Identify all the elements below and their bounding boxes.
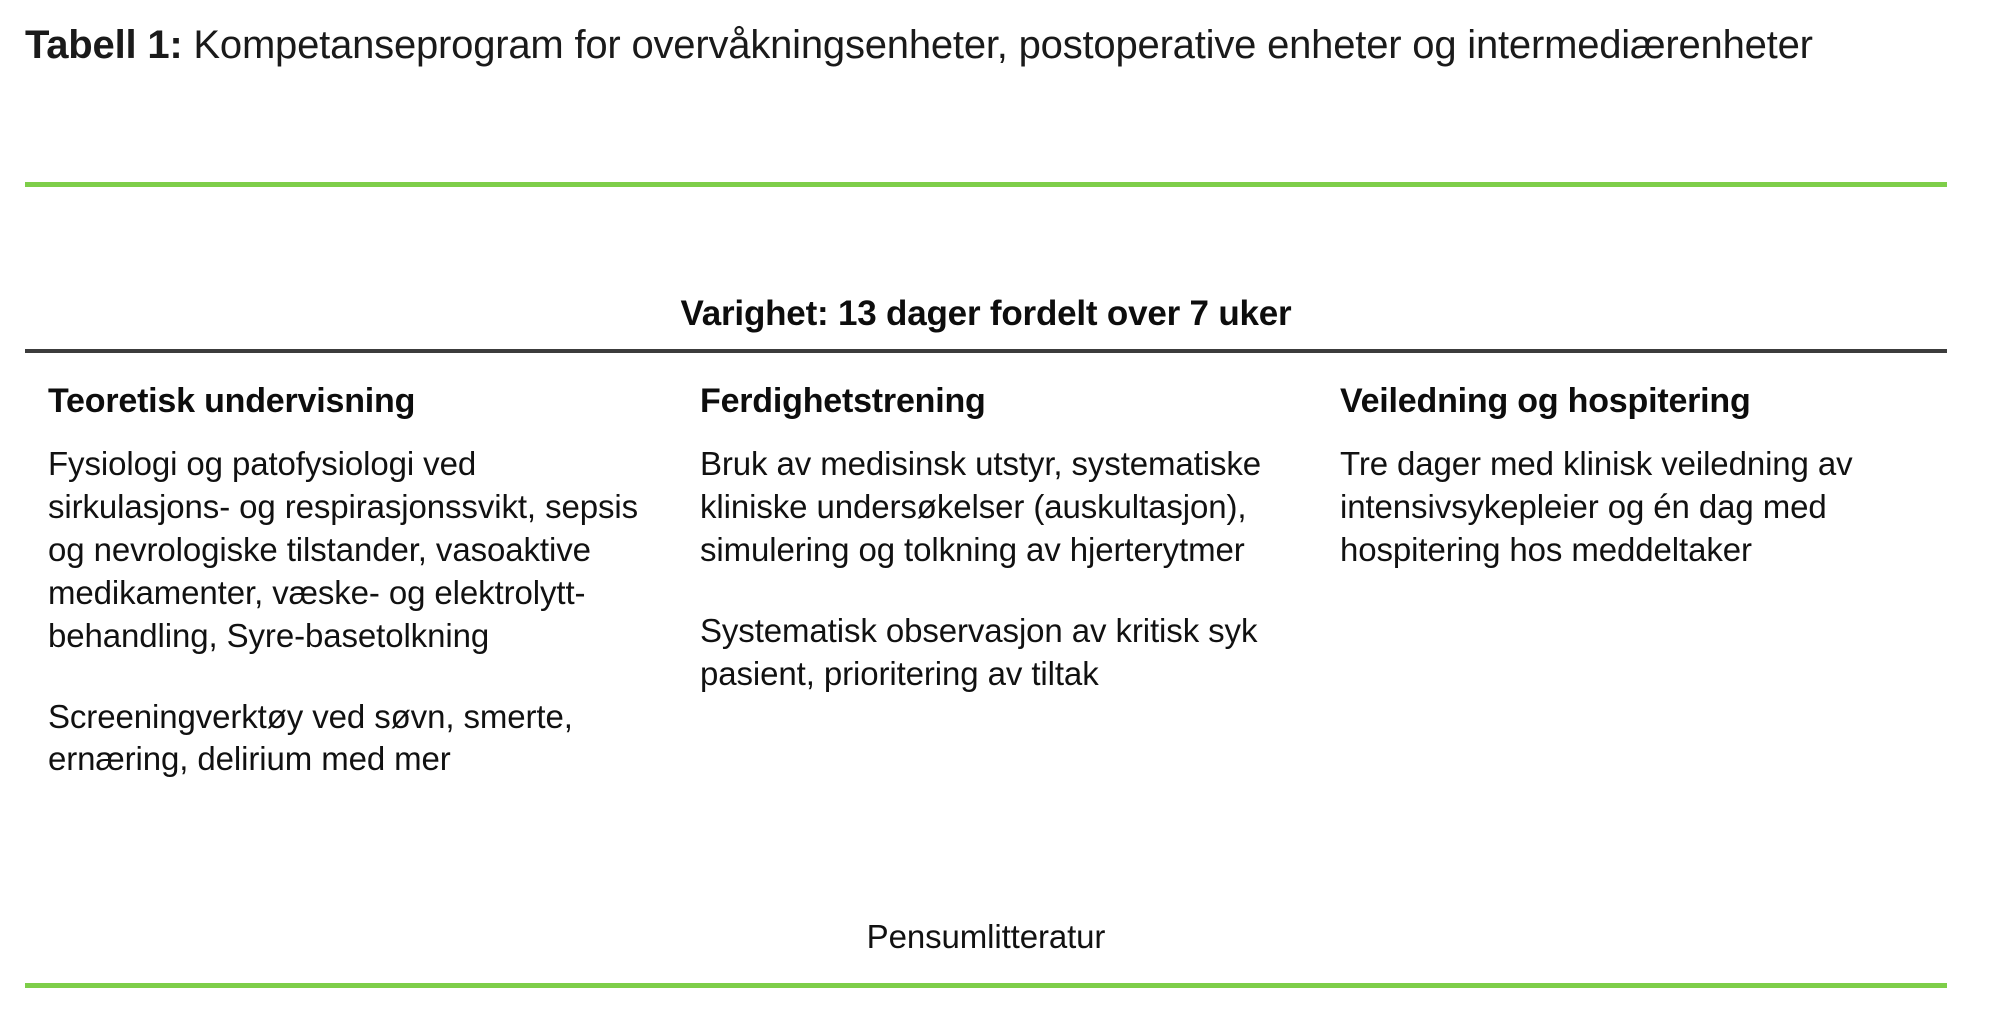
column-header: Teoretisk undervisning xyxy=(48,382,660,421)
table-caption-label: Tabell 1: xyxy=(25,23,183,67)
table-caption: Tabell 1: Kompetanseprogram for overvåkn… xyxy=(25,20,1925,71)
top-green-divider xyxy=(25,182,1947,187)
column-header: Veiledning og hospitering xyxy=(1340,382,1970,421)
footer-row-pensumlitteratur: Pensumlitteratur xyxy=(25,916,1947,959)
column-body: Fysiologi og patofysiologi ved sirkulasj… xyxy=(48,443,660,781)
column-paragraph: Screeningverktøy ved søvn, smerte, ernær… xyxy=(48,696,660,782)
duration-banner: Varighet: 13 dager fordelt over 7 uker xyxy=(25,294,1947,334)
table-column-ferdighetstrening: Ferdighetstrening Bruk av medisinsk utst… xyxy=(690,382,1330,696)
bottom-green-divider xyxy=(25,983,1947,988)
table-figure: Tabell 1: Kompetanseprogram for overvåkn… xyxy=(0,0,2000,1028)
table-column-veiledning-og-hospitering: Veiledning og hospitering Tre dager med … xyxy=(1330,382,2000,572)
column-body: Bruk av medisinsk utstyr, systematiske k… xyxy=(700,443,1300,695)
header-divider xyxy=(25,349,1947,353)
column-paragraph: Fysiologi og patofysiologi ved sirkulasj… xyxy=(48,443,660,657)
column-paragraph: Bruk av medisinsk utstyr, systematiske k… xyxy=(700,443,1300,572)
column-paragraph: Systematisk observasjon av kritisk syk p… xyxy=(700,610,1300,696)
column-paragraph: Tre dager med klinisk veiledning av inte… xyxy=(1340,443,1970,572)
column-header: Ferdighetstrening xyxy=(700,382,1300,421)
column-body: Tre dager med klinisk veiledning av inte… xyxy=(1340,443,1970,572)
table-columns: Teoretisk undervisning Fysiologi og pato… xyxy=(0,382,2000,781)
table-column-teoretisk-undervisning: Teoretisk undervisning Fysiologi og pato… xyxy=(0,382,690,781)
table-caption-text: Kompetanseprogram for overvåkningsenhete… xyxy=(183,23,1813,67)
